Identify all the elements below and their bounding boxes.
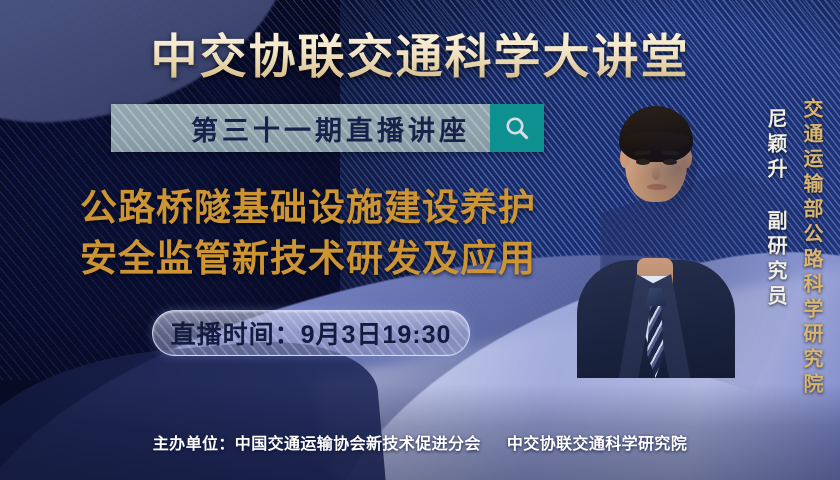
lecture-subject-line2: 安全监管新技术研发及应用	[28, 233, 588, 284]
portrait-shading	[615, 108, 697, 218]
lecture-subject-line1: 公路桥隧基础设施建设养护	[28, 182, 588, 233]
broadcast-time-text: 直播时间：9月3日19:30	[171, 315, 452, 351]
footer-org-1: 中国交通运输协会新技术促进分会	[235, 436, 481, 453]
footer-organizers: 主办单位：中国交通运输协会新技术促进分会中交协联交通科学研究院	[0, 430, 840, 454]
speaker-name-title: 尼颖升 副研究员	[761, 108, 790, 310]
speaker-portrait	[575, 78, 735, 378]
live-stream-poster: 中交协联交通科学大讲堂 第三十一期直播讲座 公路桥隧基础设施建设养护 安全监管新…	[0, 0, 840, 480]
lecture-subject: 公路桥隧基础设施建设养护 安全监管新技术研发及应用	[28, 182, 588, 284]
session-label: 第三十一期直播讲座	[131, 109, 470, 148]
session-search-field[interactable]: 第三十一期直播讲座	[111, 104, 490, 152]
page-title: 中交协联交通科学大讲堂	[0, 18, 840, 87]
session-search-bar[interactable]: 第三十一期直播讲座	[111, 104, 544, 152]
broadcast-time-badge: 直播时间：9月3日19:30	[152, 310, 470, 356]
footer-prefix: 主办单位：	[153, 436, 235, 453]
footer-org-2: 中交协联交通科学研究院	[507, 436, 687, 453]
search-button[interactable]	[490, 104, 544, 152]
speaker-organization: 交通运输部公路科学研究院	[797, 98, 826, 398]
search-icon	[503, 114, 531, 142]
